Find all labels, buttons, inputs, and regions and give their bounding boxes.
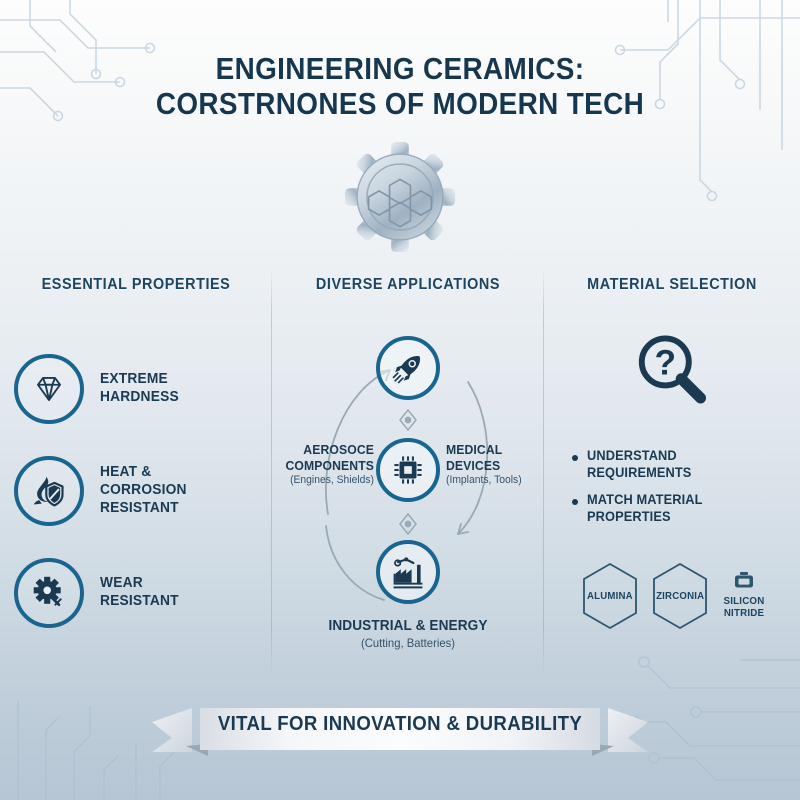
infographic-canvas: ENGINEERING CERAMICS: CORSTRNONES OF MOD… bbox=[0, 0, 800, 800]
microchip-icon[interactable] bbox=[376, 438, 440, 502]
material-badge-zirconia[interactable]: ZIRCONIA bbox=[648, 560, 712, 632]
selection-bullet-list: UNDERSTAND REQUIREMENTS MATCH MATERIAL P… bbox=[544, 448, 800, 526]
column-header-properties: ESSENTIAL PROPERTIES bbox=[10, 276, 263, 294]
bullet-dot-icon bbox=[572, 455, 578, 461]
cycle-sublabel-industrial: (Cutting, Batteries) bbox=[280, 636, 536, 650]
material-label: SILICON NITRIDE bbox=[724, 595, 765, 620]
column-essential-properties: ESSENTIAL PROPERTIES EXTREME HARDNESS bbox=[0, 258, 272, 688]
column-divider-2 bbox=[543, 266, 544, 678]
column-diverse-applications: DIVERSE APPLICATIONS bbox=[272, 258, 544, 688]
page-title: ENGINEERING CERAMICS: CORSTRNONES OF MOD… bbox=[0, 52, 800, 121]
magnifier-question-icon: ? bbox=[544, 330, 800, 414]
content-columns: ESSENTIAL PROPERTIES EXTREME HARDNESS bbox=[0, 258, 800, 688]
cycle-label-aerospace-text: AEROSOCE COMPONENTS bbox=[285, 442, 374, 473]
property-item[interactable]: EXTREME HARDNESS bbox=[14, 338, 272, 440]
gear-honeycomb-icon bbox=[345, 142, 455, 257]
column-divider-1 bbox=[271, 266, 272, 678]
cycle-label-medical: MEDICAL DEVICES (Implants, Tools) bbox=[446, 442, 538, 487]
banner-label: VITAL FOR INNOVATION & DURABILITY bbox=[28, 713, 772, 736]
cycle-label-aerospace: AEROSOCE COMPONENTS (Engines, Shields) bbox=[280, 442, 374, 487]
application-cycle: AEROSOCE COMPONENTS (Engines, Shields) M… bbox=[272, 318, 544, 668]
title-line-1: ENGINEERING CERAMICS: bbox=[40, 52, 760, 87]
list-item[interactable]: UNDERSTAND REQUIREMENTS bbox=[572, 448, 800, 481]
property-label: EXTREME HARDNESS bbox=[100, 371, 179, 406]
material-label: ALUMINA bbox=[587, 590, 633, 602]
cycle-label-industrial: INDUSTRIAL & ENERGY (Cutting, Batteries) bbox=[280, 618, 536, 651]
property-label: WEAR RESISTANT bbox=[100, 575, 179, 610]
material-badges: ALUMINA ZIRCONIA SILICON NITRIDE bbox=[544, 560, 800, 632]
cycle-sublabel-medical: (Implants, Tools) bbox=[446, 474, 538, 487]
title-line-2: CORSTRNONES OF MODERN TECH bbox=[40, 87, 760, 122]
property-label: HEAT & CORROSION RESISTANT bbox=[100, 464, 187, 517]
property-item[interactable]: HEAT & CORROSION RESISTANT bbox=[14, 440, 272, 542]
flame-shield-icon bbox=[14, 456, 84, 526]
property-list: EXTREME HARDNESS HEAT & CORROSION RESIST… bbox=[0, 338, 272, 644]
material-badge-alumina[interactable]: ALUMINA bbox=[578, 560, 642, 632]
column-header-material-selection: MATERIAL SELECTION bbox=[553, 276, 791, 294]
bullet-dot-icon bbox=[572, 499, 578, 505]
column-material-selection: MATERIAL SELECTION ? UNDERSTAND REQUIREM… bbox=[544, 258, 800, 688]
bullet-label: UNDERSTAND REQUIREMENTS bbox=[587, 448, 691, 481]
material-badge-silicon-nitride[interactable]: SILICON NITRIDE bbox=[722, 571, 766, 620]
material-label: ZIRCONIA bbox=[656, 590, 704, 602]
badge-icon bbox=[733, 571, 755, 591]
diamond-icon bbox=[14, 354, 84, 424]
cycle-label-medical-text: MEDICAL DEVICES bbox=[446, 442, 502, 473]
cycle-node-aerospace[interactable] bbox=[376, 336, 440, 400]
gear-wrench-icon bbox=[14, 558, 84, 628]
bullet-label: MATCH MATERIAL PROPERTIES bbox=[587, 492, 789, 525]
factory-robot-icon[interactable] bbox=[376, 540, 440, 604]
bottom-banner: VITAL FOR INNOVATION & DURABILITY bbox=[0, 700, 800, 760]
column-header-applications: DIVERSE APPLICATIONS bbox=[282, 276, 535, 294]
cycle-label-industrial-text: INDUSTRIAL & ENERGY bbox=[328, 618, 487, 634]
svg-text:?: ? bbox=[655, 344, 677, 383]
property-item[interactable]: WEAR RESISTANT bbox=[14, 542, 272, 644]
cycle-sublabel-aerospace: (Engines, Shields) bbox=[280, 474, 374, 487]
list-item[interactable]: MATCH MATERIAL PROPERTIES bbox=[572, 492, 800, 525]
